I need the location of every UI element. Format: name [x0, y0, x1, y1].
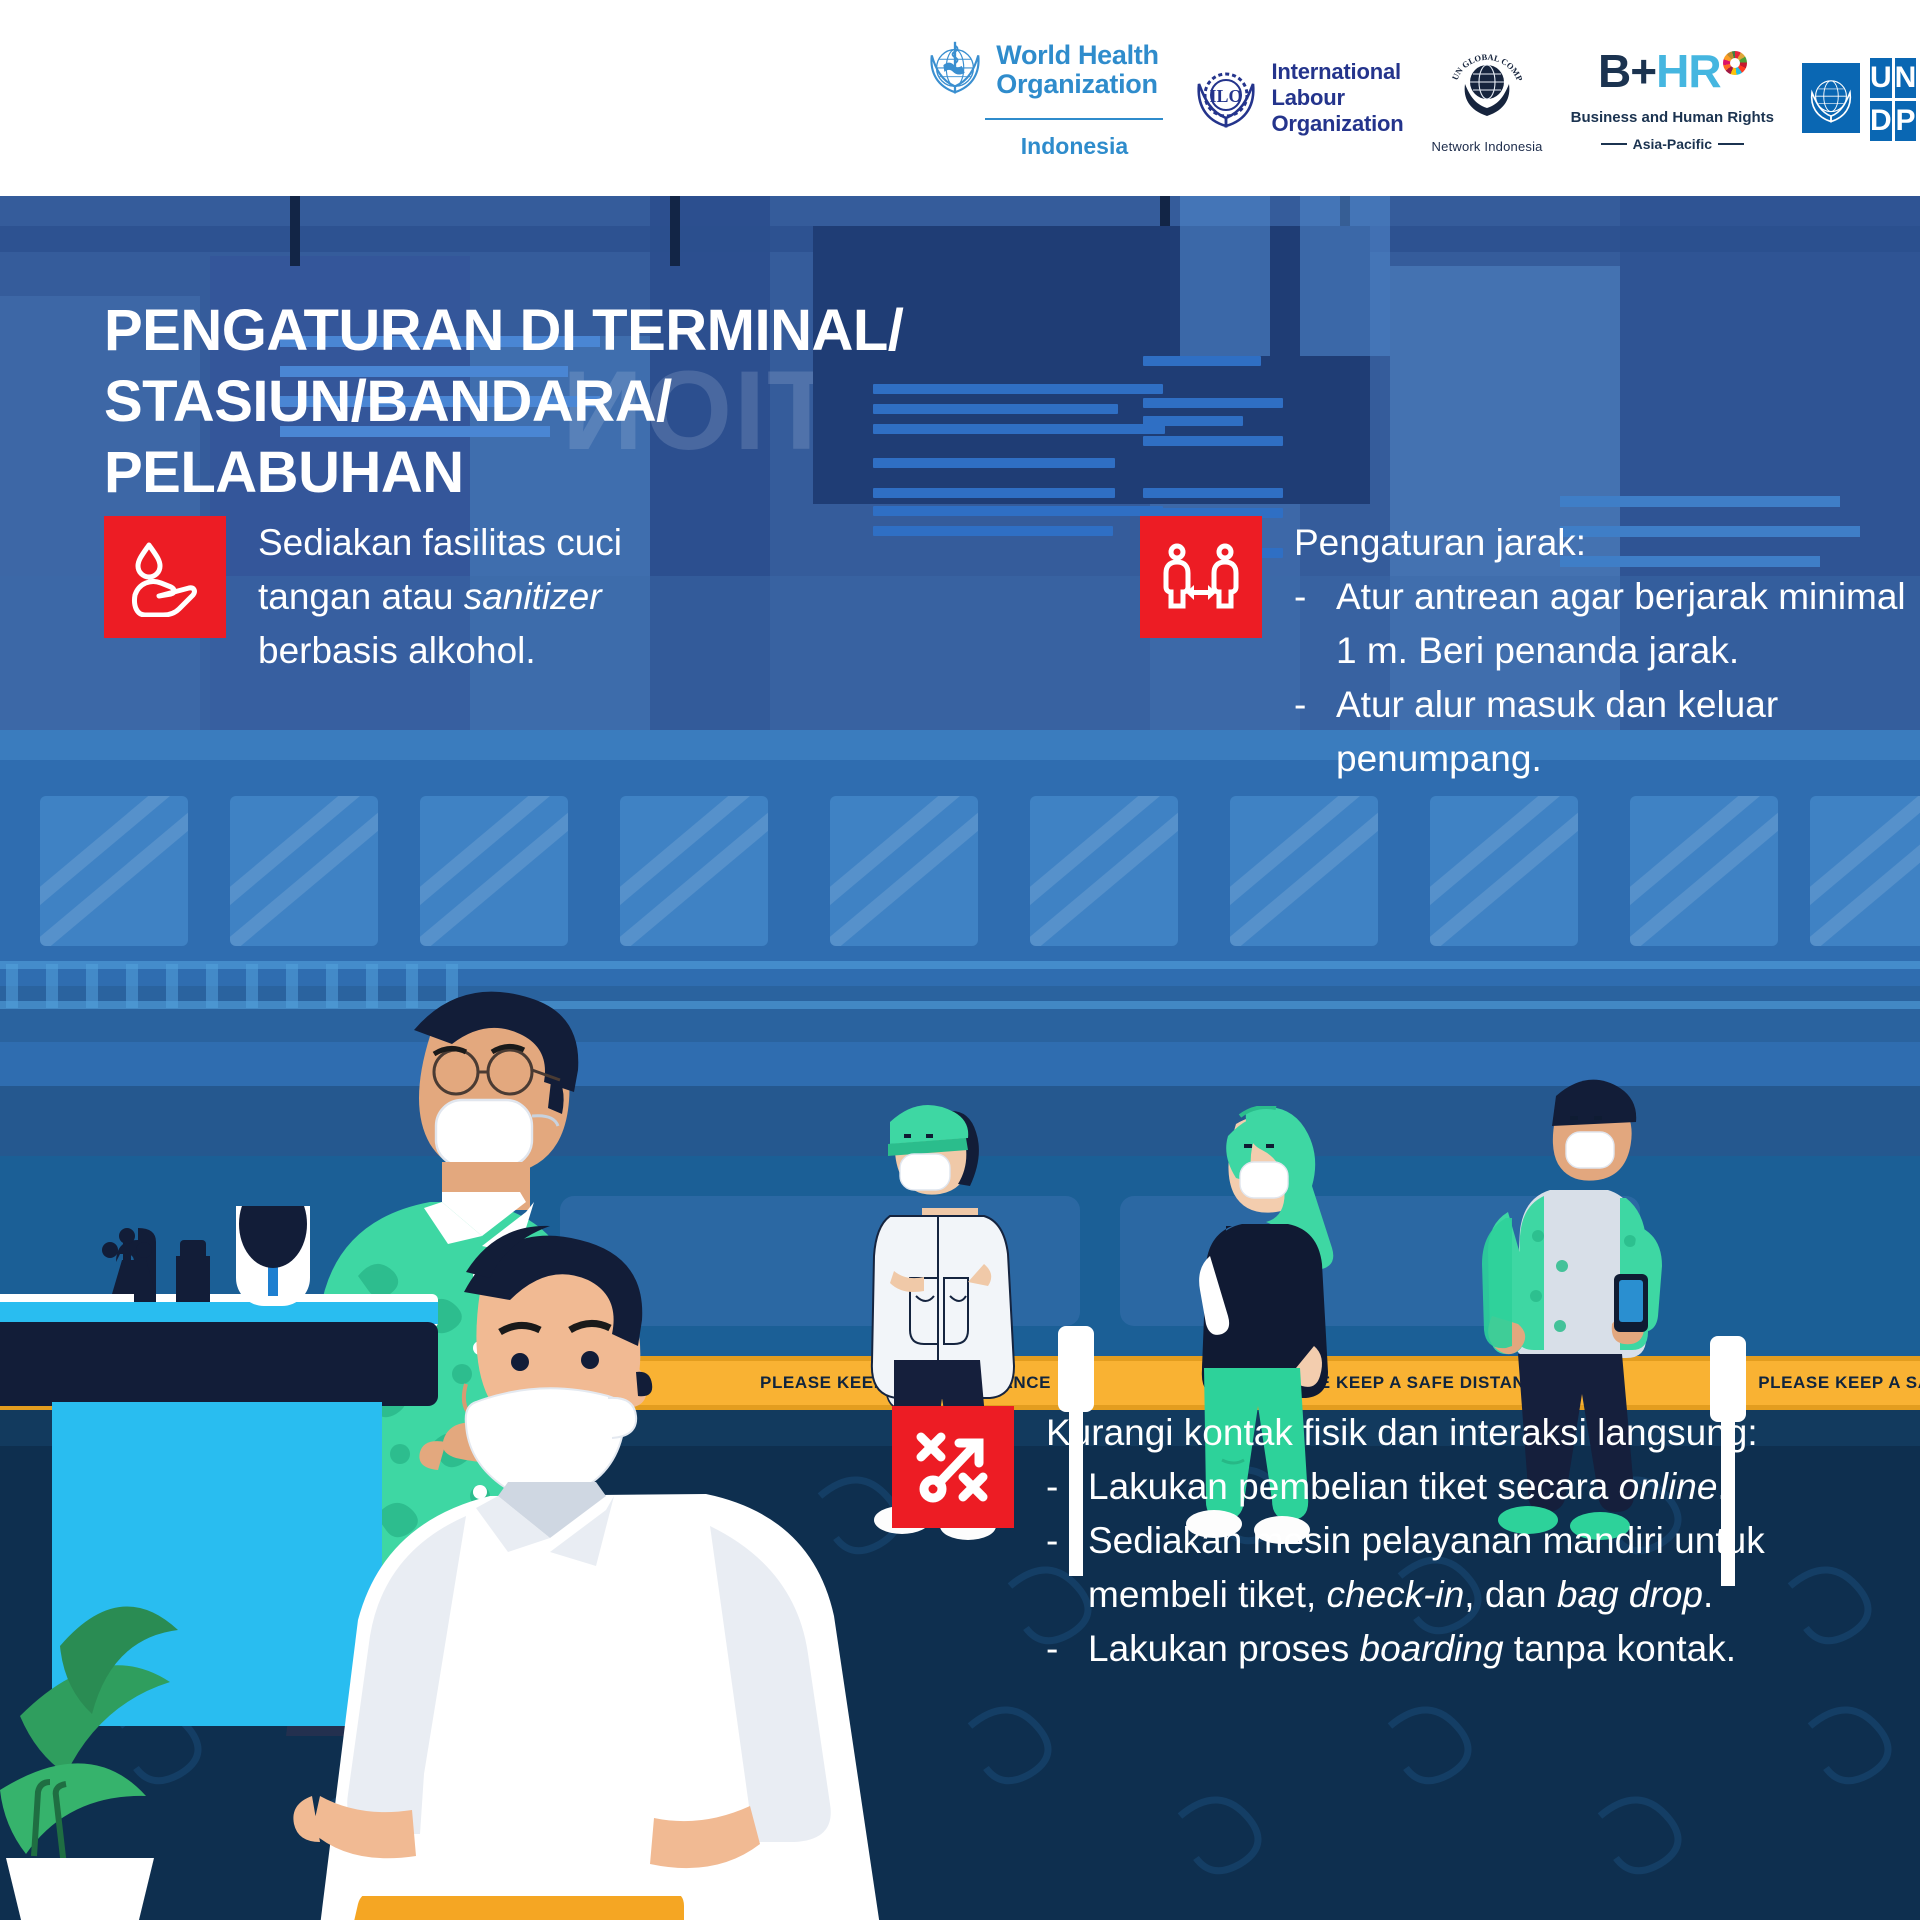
who-emblem-icon — [924, 36, 986, 103]
train-window — [830, 796, 978, 946]
laptop-device — [300, 1896, 740, 1920]
who-name-line2: Organization — [996, 70, 1158, 98]
bullet-dash: - — [1046, 1622, 1066, 1676]
logo-international-labour-organization: ILO International Labour Organization — [1191, 59, 1403, 137]
tape-text: PLEASE KEEP A SAFE DISTANCE — [1758, 1373, 1920, 1393]
logo-world-health-organization: World Health Organization Indonesia — [919, 36, 1163, 160]
train-window — [1230, 796, 1378, 946]
undp-letter-n: N — [1895, 58, 1917, 98]
title-line-1: PENGATURAN DI TERMINAL/ — [104, 296, 903, 367]
bullet-text-em: bag drop — [1557, 1574, 1703, 1615]
reduce-contact-bullet: - Sediakan mesin pelayanan mandiri untuk… — [1046, 1514, 1902, 1622]
un-global-compact-caption: Network Indonesia — [1432, 139, 1543, 154]
bhr-region-label: Asia-Pacific — [1633, 136, 1712, 152]
reduce-contact-text: Kurangi kontak fisik dan interaksi langs… — [1046, 1406, 1902, 1676]
svg-text:ILO: ILO — [1210, 86, 1243, 106]
handwashing-text-em: sanitizer — [464, 576, 602, 617]
train-window — [420, 796, 568, 946]
potted-plant — [0, 1526, 320, 1920]
bullet-text: Atur alur masuk dan keluar penumpang. — [1336, 678, 1910, 786]
bullet-text-part: . — [1703, 1574, 1713, 1615]
strategy-icon — [892, 1406, 1014, 1528]
wall-line — [1560, 496, 1840, 507]
block-handwashing: Sediakan fasilitas cuci tangan atau sani… — [104, 516, 724, 678]
pillar-panel — [1180, 196, 1270, 356]
title-line-3: PELABUHAN — [104, 438, 903, 509]
distancing-bullet: - Atur alur masuk dan keluar penumpang. — [1294, 678, 1910, 786]
handwash-icon — [104, 516, 226, 638]
train-window — [230, 796, 378, 946]
bullet-dash: - — [1046, 1460, 1066, 1514]
bhr-letters-hr: HR — [1656, 44, 1720, 98]
bullet-text-em: boarding — [1360, 1628, 1504, 1669]
page-title: PENGATURAN DI TERMINAL/ STASIUN/BANDARA/… — [104, 296, 903, 508]
ilo-line3: Organization — [1271, 111, 1403, 137]
bhr-rule-left — [1601, 143, 1627, 145]
bhr-rule-right — [1718, 143, 1744, 145]
undp-letter-p: P — [1895, 101, 1917, 141]
train-window — [1430, 796, 1578, 946]
bhr-letter-b: B — [1598, 44, 1630, 98]
bullet-text: Lakukan proses boarding tanpa kontak. — [1088, 1622, 1902, 1676]
sdg-wheel-icon — [1723, 51, 1747, 75]
train-window — [620, 796, 768, 946]
reduce-contact-bullet: - Lakukan proses boarding tanpa kontak. — [1046, 1622, 1902, 1676]
reduce-contact-bullet: - Lakukan pembelian tiket secara online. — [1046, 1460, 1902, 1514]
undp-letter-u: U — [1870, 58, 1892, 98]
laptop-user-figure — [280, 1196, 940, 1920]
bhr-plus-sign: + — [1630, 44, 1656, 98]
bullet-text-part: Lakukan pembelian tiket secara — [1088, 1466, 1619, 1507]
logo-bar: World Health Organization Indonesia ILO … — [0, 0, 1920, 196]
bullet-text-em: check-in — [1327, 1574, 1465, 1615]
pillar-panel — [1300, 196, 1390, 356]
bullet-dash: - — [1294, 678, 1314, 786]
distancing-heading: Pengaturan jarak: — [1294, 516, 1910, 570]
bullet-text-part: tanpa kontak. — [1504, 1628, 1736, 1669]
barrier-post-head — [1058, 1326, 1094, 1412]
bullet-text-part: . — [1717, 1466, 1727, 1507]
distancing-bullet: - Atur antrean agar berjarak minimal 1 m… — [1294, 570, 1910, 678]
logo-un-global-compact: UN GLOBAL COMPACT Network Indonesia — [1432, 42, 1543, 154]
bhr-subtitle: Business and Human Rights — [1571, 109, 1774, 126]
board-hanger — [670, 196, 680, 266]
ilo-emblem-icon: ILO — [1191, 60, 1261, 135]
train-window — [1630, 796, 1778, 946]
board-hanger — [290, 196, 300, 266]
bullet-dash: - — [1294, 570, 1314, 678]
bullet-text: Atur antrean agar berjarak minimal 1 m. … — [1336, 570, 1910, 678]
logo-undp: U N D P — [1802, 55, 1880, 141]
un-global-compact-globe-icon: UN GLOBAL COMPACT — [1444, 42, 1530, 125]
bullet-text: Lakukan pembelian tiket secara online. — [1088, 1460, 1902, 1514]
who-name-line1: World Health — [996, 41, 1158, 69]
bullet-text-part: Lakukan proses — [1088, 1628, 1360, 1669]
illustration-scene: STATION — [0, 196, 1920, 1920]
distancing-text: Pengaturan jarak: - Atur antrean agar be… — [1294, 516, 1910, 786]
train-window — [40, 796, 188, 946]
undp-letter-d: D — [1870, 101, 1892, 141]
bullet-text-em: online — [1619, 1466, 1718, 1507]
bullet-dash: - — [1046, 1514, 1066, 1622]
train-window — [1030, 796, 1178, 946]
handwashing-text-part: berbasis alkohol. — [258, 630, 536, 671]
distance-people-icon — [1140, 516, 1262, 638]
undp-emblem-icon — [1802, 63, 1860, 133]
who-divider — [985, 118, 1163, 120]
infographic-poster: World Health Organization Indonesia ILO … — [0, 0, 1920, 1920]
ilo-line1: International — [1271, 59, 1403, 85]
bullet-text-part: , dan — [1464, 1574, 1557, 1615]
train-window — [1810, 796, 1920, 946]
who-country-label: Indonesia — [1021, 133, 1128, 160]
title-line-2: STASIUN/BANDARA/ — [104, 367, 903, 438]
handwashing-text: Sediakan fasilitas cuci tangan atau sani… — [258, 516, 724, 678]
logo-business-human-rights: B + HR Business and Human Rights Asia-Pa… — [1571, 44, 1774, 152]
bullet-text: Sediakan mesin pelayanan mandiri untuk m… — [1088, 1514, 1902, 1622]
block-reduce-contact: Kurangi kontak fisik dan interaksi langs… — [892, 1406, 1902, 1676]
ilo-line2: Labour — [1271, 85, 1403, 111]
block-physical-distancing: Pengaturan jarak: - Atur antrean agar be… — [1140, 516, 1910, 786]
reduce-contact-heading: Kurangi kontak fisik dan interaksi langs… — [1046, 1406, 1902, 1460]
